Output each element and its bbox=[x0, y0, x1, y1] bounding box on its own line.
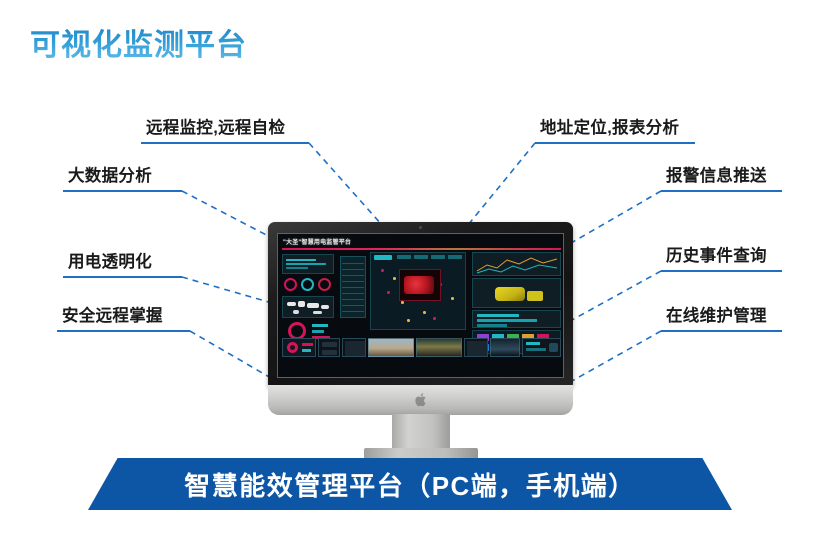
feature-label-address-location-report: 地址定位,报表分析 bbox=[540, 118, 679, 138]
monitor-screen: "大圣"智慧用电监管平台 bbox=[277, 233, 564, 378]
camera-feed-4 bbox=[368, 338, 414, 357]
donut-gauge-2 bbox=[301, 278, 314, 291]
dashboard: "大圣"智慧用电监管平台 bbox=[278, 234, 564, 378]
poster-canvas: 可视化监测平台 bbox=[0, 0, 820, 546]
feature-label-text: 报警信息推送 bbox=[666, 166, 767, 186]
imac-monitor: "大圣"智慧用电监管平台 bbox=[268, 222, 573, 437]
feature-label-online-maintenance: 在线维护管理 bbox=[666, 306, 767, 326]
data-grid-table bbox=[340, 256, 366, 318]
feature-label-remote-monitoring: 远程监控,远程自检 bbox=[146, 118, 285, 138]
camera-feed-5 bbox=[416, 338, 462, 357]
feature-label-safe-remote-control: 安全远程掌握 bbox=[62, 306, 163, 326]
panel-3d-model bbox=[472, 278, 561, 308]
feature-label-power-transparency: 用电透明化 bbox=[68, 252, 152, 272]
line-chart-icon bbox=[473, 253, 562, 277]
panel-geo-scatter bbox=[370, 252, 466, 330]
feature-label-text: 远程监控,远程自检 bbox=[146, 118, 285, 138]
panel-line-chart bbox=[472, 252, 561, 276]
feature-label-text: 地址定位,报表分析 bbox=[540, 118, 679, 138]
monitor-chin bbox=[268, 385, 573, 415]
dashboard-body bbox=[282, 252, 561, 357]
webcam-icon bbox=[419, 226, 422, 229]
feature-label-text: 历史事件查询 bbox=[666, 246, 767, 266]
feature-label-text: 大数据分析 bbox=[68, 166, 152, 186]
camera-feed-8 bbox=[522, 338, 561, 357]
apple-logo bbox=[414, 392, 428, 408]
camera-feed-2 bbox=[318, 338, 340, 357]
panel-world-map bbox=[282, 296, 334, 318]
feature-label-big-data-analysis: 大数据分析 bbox=[68, 166, 152, 186]
donut-gauge-3 bbox=[318, 278, 331, 291]
bottom-banner: 智慧能效管理平台（PC端，手机端） bbox=[88, 458, 732, 510]
feature-label-text: 用电透明化 bbox=[68, 252, 152, 272]
alert-detail-window bbox=[399, 269, 441, 301]
dashboard-accent-rule bbox=[282, 248, 561, 250]
feature-label-alarm-push: 报警信息推送 bbox=[666, 166, 767, 186]
feature-label-history-query: 历史事件查询 bbox=[666, 246, 767, 266]
camera-feed-7 bbox=[490, 338, 520, 357]
panel-progress-bars bbox=[472, 310, 561, 328]
banner-text: 智慧能效管理平台（PC端，手机端） bbox=[88, 458, 732, 510]
camera-feed-1 bbox=[282, 338, 316, 357]
donut-gauge-1 bbox=[284, 278, 297, 291]
monitor-bezel: "大圣"智慧用电监管平台 bbox=[268, 222, 573, 387]
camera-feed-6 bbox=[464, 338, 488, 357]
feature-label-text: 安全远程掌握 bbox=[62, 306, 163, 326]
dashboard-title: "大圣"智慧用电监管平台 bbox=[283, 237, 351, 246]
camera-feed-3 bbox=[342, 338, 366, 357]
monitor-stand-neck bbox=[392, 414, 450, 450]
feature-label-text: 在线维护管理 bbox=[666, 306, 767, 326]
panel-trend bbox=[282, 254, 334, 274]
